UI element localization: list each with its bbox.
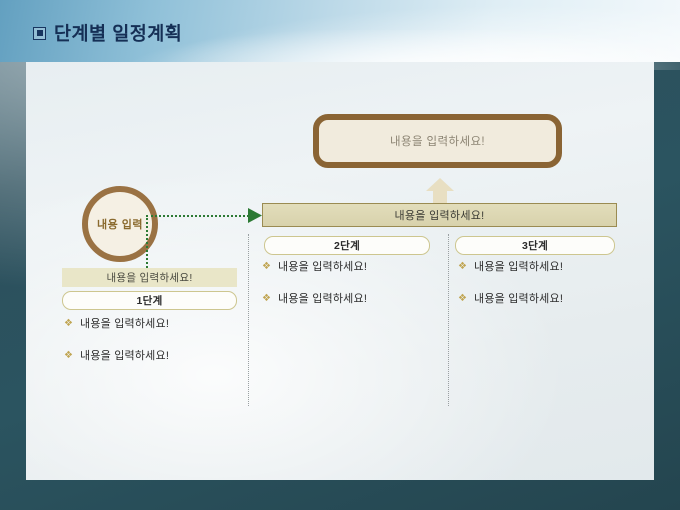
list-item[interactable]: ❖ 내용을 입력하세요! [262,293,442,305]
list-item[interactable]: ❖ 내용을 입력하세요! [64,318,244,330]
dotted-line-vertical [146,215,148,275]
column-1-label-bar-text: 내용을 입력하세요! [106,270,192,285]
stage-pill-2[interactable]: 2단계 [264,236,430,255]
column-divider-2 [448,234,449,406]
list-item[interactable]: ❖ 내용을 입력하세요! [458,293,638,305]
list-item-text: 내용을 입력하세요! [80,318,169,330]
stage-pill-1-label: 1단계 [136,293,162,308]
top-callout-box[interactable]: 내용을 입력하세요! [313,114,562,168]
list-item-text: 내용을 입력하세요! [80,350,169,362]
diamond-bullet-icon: ❖ [64,350,73,362]
stage-pill-3[interactable]: 3단계 [455,236,615,255]
diamond-bullet-icon: ❖ [64,318,73,330]
bullet-list-column-2: ❖ 내용을 입력하세요! ❖ 내용을 입력하세요! [262,261,442,325]
diamond-bullet-icon: ❖ [458,261,467,273]
list-item-text: 내용을 입력하세요! [474,261,563,273]
column-divider-1 [248,234,249,406]
column-1-label-bar[interactable]: 내용을 입력하세요! [62,268,237,287]
stage-pill-1[interactable]: 1단계 [62,291,237,310]
wide-label-bar[interactable]: 내용을 입력하세요! [262,203,617,227]
bullet-list-column-1: ❖ 내용을 입력하세요! ❖ 내용을 입력하세요! [64,318,244,382]
page-title-text: 단계별 일정계획 [54,20,182,46]
diamond-bullet-icon: ❖ [262,261,271,273]
wide-label-bar-text: 내용을 입력하세요! [394,207,484,223]
page-title: 단계별 일정계획 [33,20,182,46]
bullet-list-column-3: ❖ 내용을 입력하세요! ❖ 내용을 입력하세요! [458,261,638,325]
up-arrow-icon [425,177,455,205]
top-callout-text: 내용을 입력하세요! [390,133,485,149]
stage-pill-3-label: 3단계 [522,238,548,253]
list-item[interactable]: ❖ 내용을 입력하세요! [458,261,638,273]
list-item-text: 내용을 입력하세요! [278,261,367,273]
diamond-bullet-icon: ❖ [262,293,271,305]
arrow-right-icon [248,208,262,223]
dotted-line-horizontal [146,215,249,217]
list-item-text: 내용을 입력하세요! [278,293,367,305]
slide: 단계별 일정계획 내용을 입력하세요! 내용 입력 내용을 입력하세요! 2단계… [0,0,680,510]
start-circle-label: 내용 입력 [97,216,143,232]
list-item[interactable]: ❖ 내용을 입력하세요! [262,261,442,273]
diamond-bullet-icon: ❖ [458,293,467,305]
stage-pill-2-label: 2단계 [334,238,360,253]
filled-square-icon [33,27,46,40]
list-item-text: 내용을 입력하세요! [474,293,563,305]
list-item[interactable]: ❖ 내용을 입력하세요! [64,350,244,362]
